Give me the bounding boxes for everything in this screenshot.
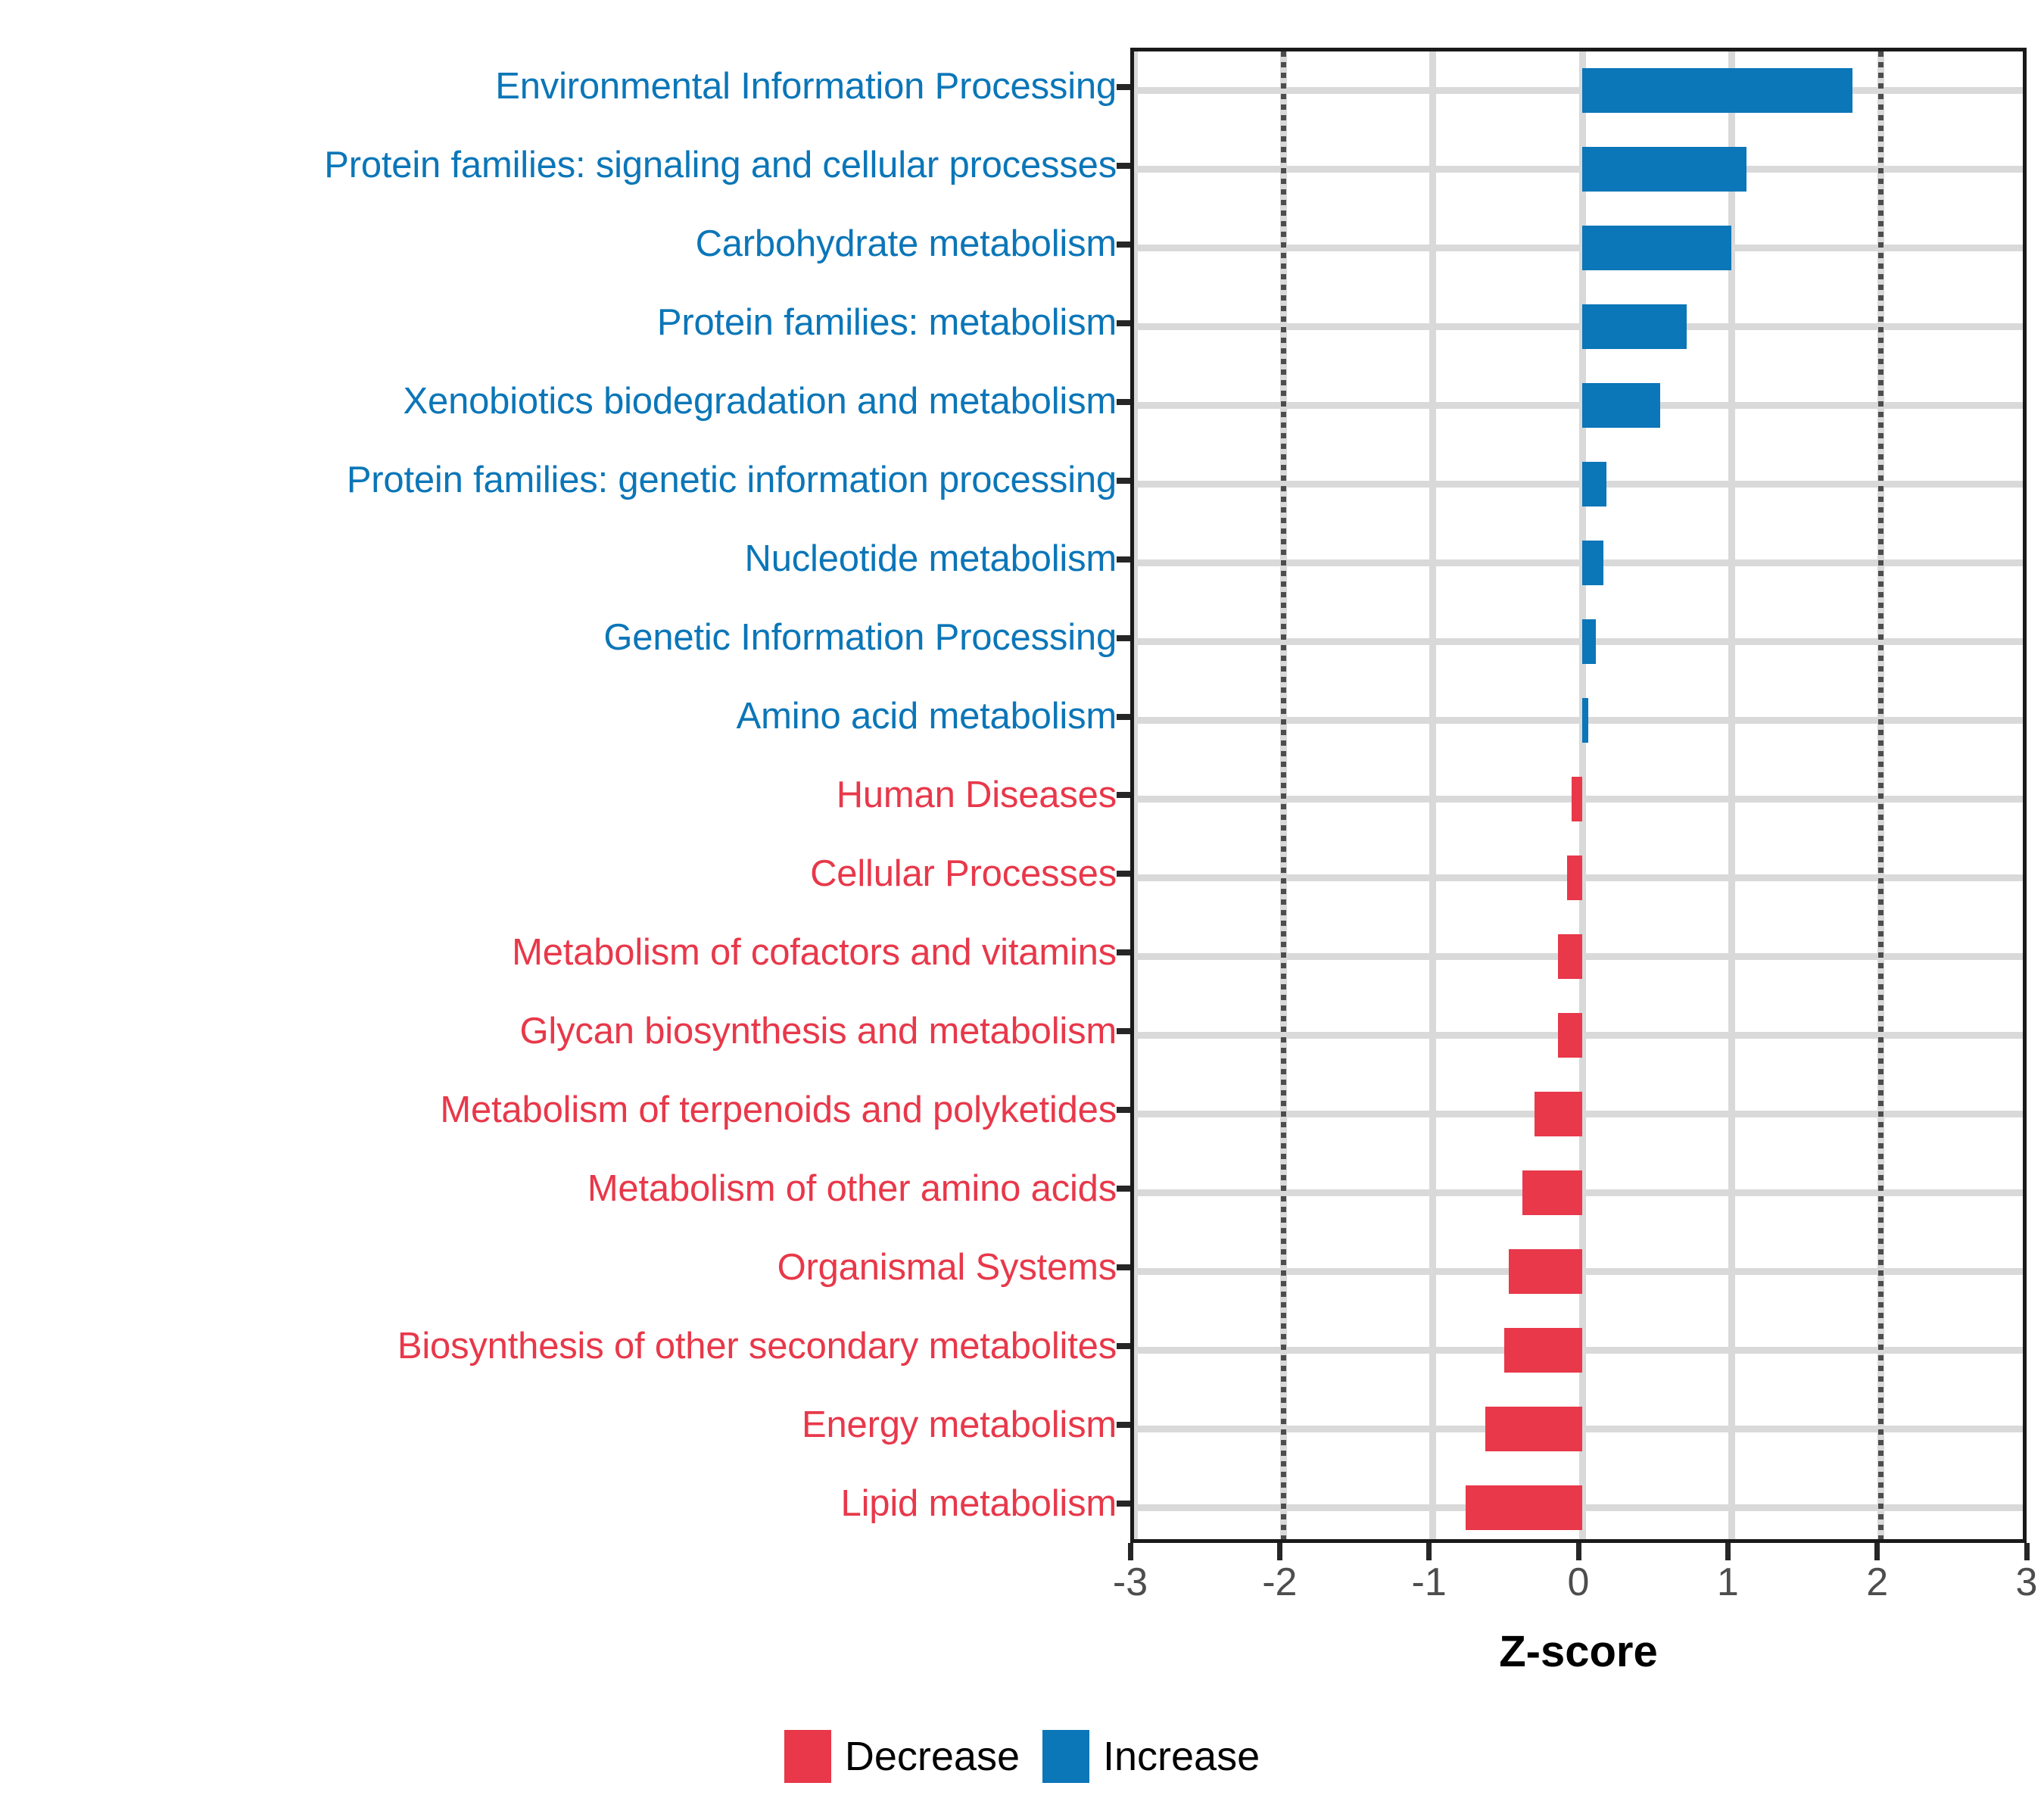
x-axis-tick-label: -1 [1412,1563,1447,1602]
bar [1582,619,1596,664]
y-axis-tick-mark [1117,1186,1130,1192]
y-axis-tick-label: Biosynthesis of other secondary metaboli… [397,1328,1117,1365]
y-axis-labels: Environmental Information ProcessingProt… [0,48,1117,1543]
y-axis-tick-row: Organismal Systems [777,1228,1117,1307]
x-axis-tick-mark [1874,1543,1880,1560]
y-axis-tick-label: Protein families: signaling and cellular… [324,147,1117,184]
zscore-bar-chart: Environmental Information ProcessingProt… [0,0,2044,1817]
y-axis-tick-mark [1117,635,1130,641]
x-axis-tick-label: 3 [2016,1563,2038,1602]
x-axis-tick-label: -3 [1113,1563,1148,1602]
legend-label: Increase [1103,1736,1260,1777]
y-axis-tick-row: Lipid metabolism [841,1464,1117,1543]
y-axis-tick-mark [1117,1501,1130,1507]
bar [1572,777,1582,821]
horizontal-gridline [1134,245,2023,251]
y-axis-tick-mark [1117,478,1130,484]
y-axis-tick-row: Carbohydrate metabolism [696,205,1117,284]
y-axis-tick-label: Organismal Systems [777,1249,1117,1286]
bar [1504,1328,1582,1373]
x-axis-tick-mark [1576,1543,1581,1560]
y-axis-tick-label: Genetic Information Processing [603,619,1117,656]
bar [1582,462,1606,506]
y-axis-tick-label: Lipid metabolism [841,1485,1117,1522]
y-axis-tick-mark [1117,949,1130,955]
bar [1582,304,1687,349]
y-axis-tick-label: Glycan biosynthesis and metabolism [520,1013,1117,1050]
bar [1582,147,1746,192]
y-axis-tick-mark [1117,1422,1130,1428]
x-axis-tick-label: 2 [1866,1563,1888,1602]
chart-legend: DecreaseIncrease [0,1730,2044,1783]
bar [1558,1013,1582,1058]
x-axis-tick-label: -2 [1262,1563,1297,1602]
x-axis-tick-mark [1128,1543,1133,1560]
x-axis-tick-label: 1 [1717,1563,1739,1602]
y-axis-tick-mark [1117,1343,1130,1349]
y-axis-tick-mark [1117,399,1130,405]
y-axis-tick-label: Nucleotide metabolism [745,541,1117,578]
legend-label: Decrease [845,1736,1020,1777]
y-axis-tick-label: Energy metabolism [802,1407,1117,1444]
y-axis-tick-row: Energy metabolism [802,1385,1117,1464]
bar [1582,226,1731,270]
x-axis-tick-mark [2024,1543,2030,1560]
y-axis-tick-mark [1117,871,1130,877]
y-axis-tick-label: Cellular Processes [810,856,1117,893]
x-axis-tick-mark [1426,1543,1432,1560]
reference-line [1878,51,1884,1539]
y-axis-tick-row: Genetic Information Processing [603,599,1117,678]
bar [1466,1485,1582,1530]
horizontal-gridline [1134,166,2023,173]
y-axis-tick-mark [1117,242,1130,248]
horizontal-gridline [1134,638,2023,645]
legend-item: Increase [1042,1730,1260,1783]
y-axis-tick-row: Biosynthesis of other secondary metaboli… [397,1307,1117,1385]
y-axis-tick-row: Cellular Processes [810,834,1117,913]
y-axis-tick-label: Protein families: metabolism [657,304,1117,341]
x-axis-tick-mark [1725,1543,1731,1560]
y-axis-tick-row: Protein families: metabolism [657,284,1117,363]
y-axis-tick-mark [1117,1264,1130,1270]
y-axis-tick-row: Metabolism of other amino acids [587,1149,1117,1228]
y-axis-tick-row: Metabolism of terpenoids and polyketides [440,1071,1117,1149]
y-axis-tick-mark [1117,714,1130,720]
bar [1558,934,1582,979]
horizontal-gridline [1134,559,2023,566]
y-axis-tick-row: Metabolism of cofactors and vitamins [512,913,1117,992]
y-axis-tick-label: Carbohydrate metabolism [696,226,1117,263]
y-axis-tick-mark [1117,792,1130,798]
horizontal-gridline [1134,481,2023,488]
legend-color-swatch [1042,1730,1089,1783]
y-axis-tick-label: Metabolism of cofactors and vitamins [512,934,1117,971]
y-axis-tick-label: Human Diseases [837,777,1117,814]
horizontal-gridline [1134,717,2023,724]
y-axis-tick-row: Protein families: genetic information pr… [347,441,1117,520]
y-axis-tick-label: Amino acid metabolism [737,698,1117,735]
x-axis-tick-label: 0 [1568,1563,1590,1602]
y-axis-tick-label: Environmental Information Processing [495,68,1117,105]
reference-line [1281,51,1286,1539]
bar [1582,541,1603,585]
y-axis-tick-mark [1117,556,1130,563]
bar [1582,383,1660,428]
y-axis-tick-row: Xenobiotics biodegradation and metabolis… [404,363,1117,441]
y-axis-tick-row: Protein families: signaling and cellular… [324,126,1117,205]
bar [1582,698,1588,743]
bar [1535,1092,1582,1136]
y-axis-tick-mark [1117,1028,1130,1034]
bar [1582,68,1852,113]
bar [1522,1170,1582,1215]
legend-item: Decrease [784,1730,1020,1783]
horizontal-gridline [1134,402,2023,409]
y-axis-tick-mark [1117,1107,1130,1113]
bar [1567,856,1582,900]
horizontal-gridline [1134,87,2023,94]
x-axis-tick-mark [1277,1543,1282,1560]
y-axis-tick-row: Nucleotide metabolism [745,520,1117,599]
x-axis: -3-2-10123 [1130,1543,2027,1626]
y-axis-tick-mark [1117,163,1130,169]
horizontal-gridline [1134,323,2023,330]
bar [1509,1249,1582,1294]
y-axis-tick-label: Metabolism of other amino acids [587,1170,1117,1208]
y-axis-tick-mark [1117,320,1130,326]
y-axis-tick-mark [1117,84,1130,90]
y-axis-tick-row: Human Diseases [837,756,1117,835]
plot-panel [1130,48,2027,1543]
legend-color-swatch [784,1730,831,1783]
bar [1485,1407,1582,1451]
x-axis-title: Z-score [1130,1626,2027,1677]
y-axis-tick-row: Amino acid metabolism [737,678,1117,756]
y-axis-tick-label: Metabolism of terpenoids and polyketides [440,1092,1117,1129]
y-axis-tick-row: Glycan biosynthesis and metabolism [520,992,1117,1071]
y-axis-tick-row: Environmental Information Processing [495,48,1117,126]
y-axis-tick-label: Protein families: genetic information pr… [347,462,1117,499]
y-axis-tick-label: Xenobiotics biodegradation and metabolis… [404,383,1117,420]
